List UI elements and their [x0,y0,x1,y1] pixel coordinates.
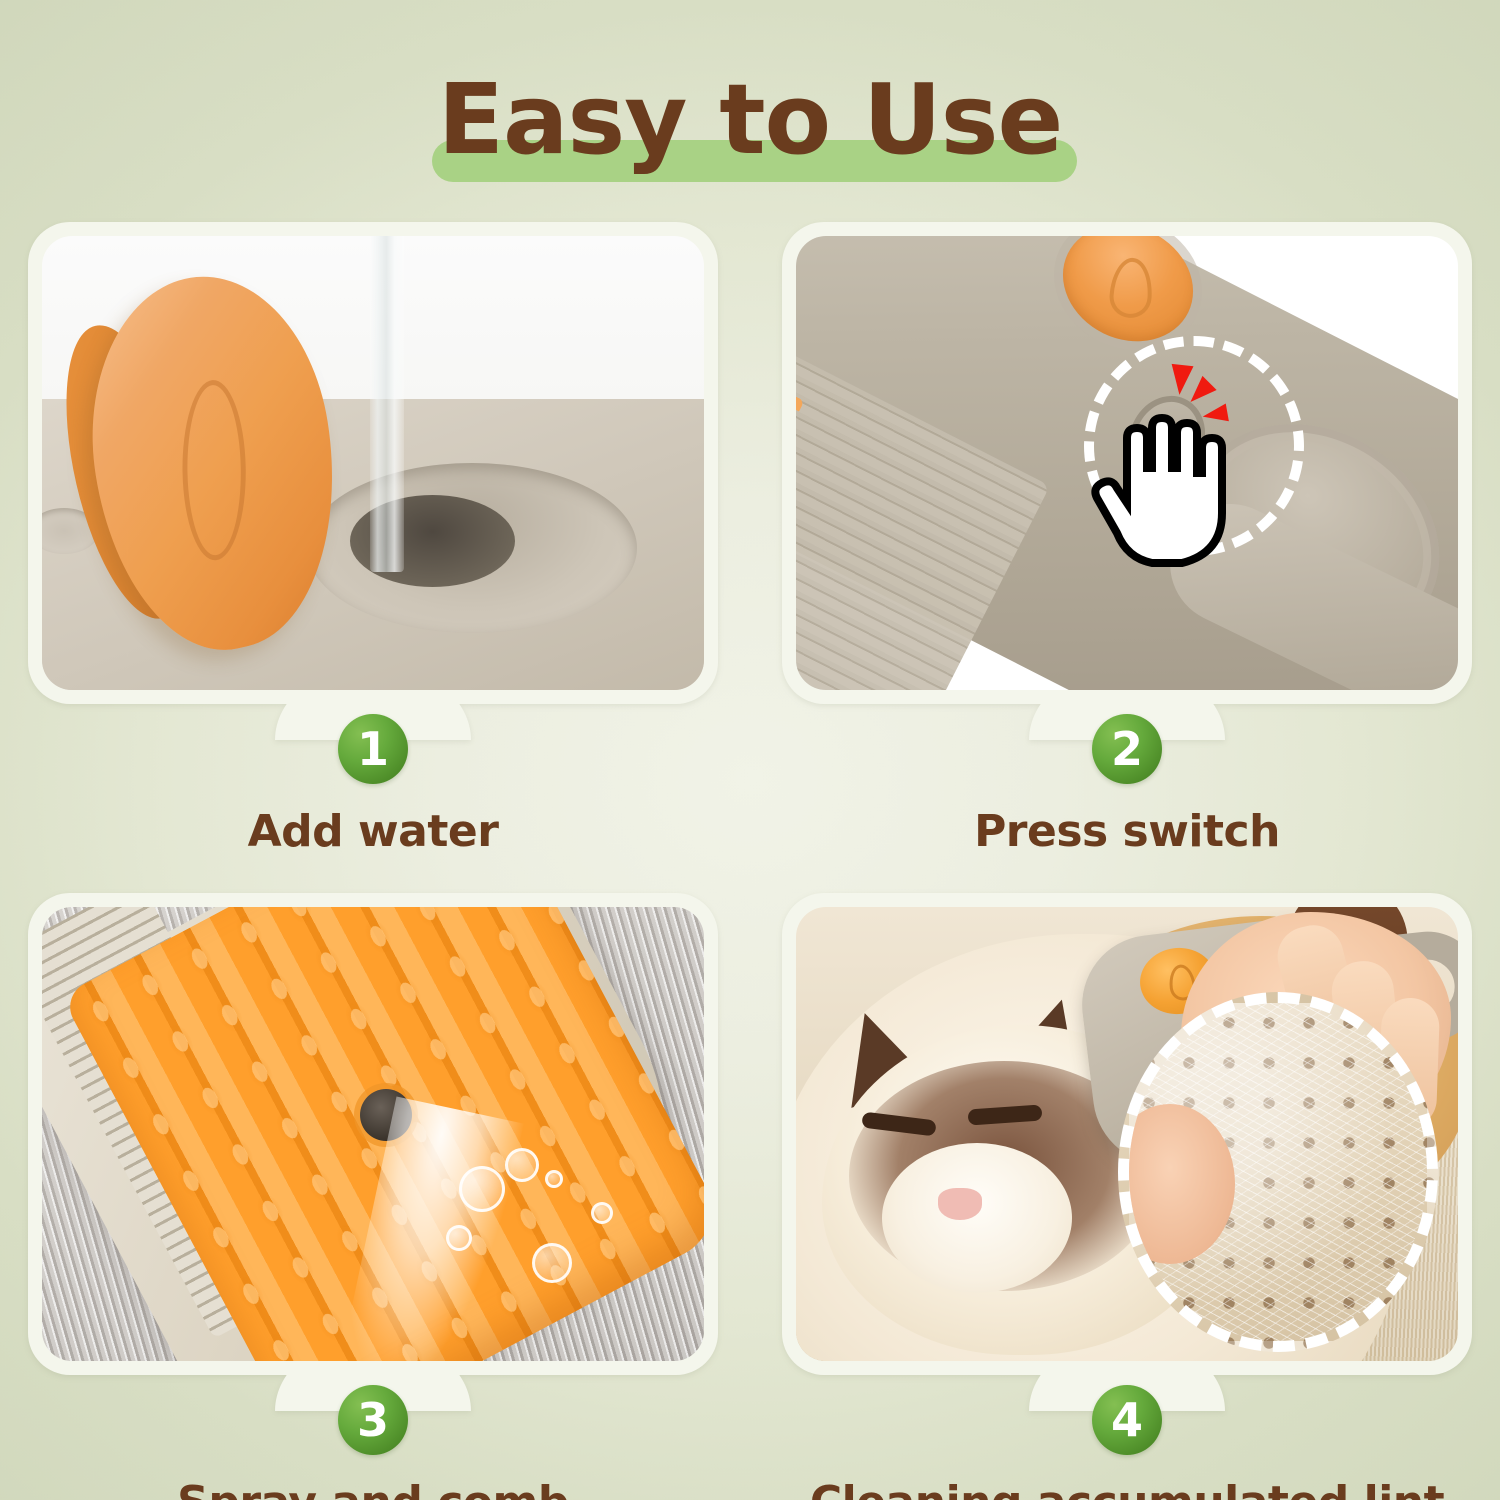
cat-muzzle [882,1143,1072,1293]
step-3-caption: Spray and comb [177,1477,569,1500]
step-1-caption: Add water [248,806,499,857]
step-4-badge: 4 [1092,1385,1162,1455]
step-1-photo-add-water [42,236,704,690]
step-2-photo-press-switch [796,236,1458,690]
step-card-4: 4 Cleaning accumulated lint [776,893,1478,1500]
page-header: Easy to Use [0,58,1500,188]
bubble-icon [505,1148,539,1182]
step-2-badge: 2 [1092,714,1162,784]
page-title: Easy to Use [438,71,1063,168]
step-3-photo-frame [28,893,718,1375]
step-3-badge: 3 [338,1385,408,1455]
hand-cursor-icon [1087,413,1237,577]
step-3-photo-spray-comb [42,907,704,1361]
lint-closeup-inset [1118,992,1438,1352]
step-card-2: 2 Press switch [776,222,1478,857]
step-card-3: 3 Spray and comb [22,893,724,1500]
bubble-icon [459,1166,505,1212]
bubble-icon [532,1243,572,1283]
step-1-badge: 1 [338,714,408,784]
step-2-caption: Press switch [974,806,1280,857]
step-4-photo-cleaning-lint [796,907,1458,1361]
step-4-caption: Cleaning accumulated lint [810,1477,1444,1500]
steps-grid: 1 Add water [22,222,1478,1484]
bubble-icon [446,1225,472,1251]
step-1-photo-frame [28,222,718,704]
water-stream [370,236,404,572]
step-card-1: 1 Add water [22,222,724,857]
step-4-photo-frame [782,893,1472,1375]
step-2-photo-frame [782,222,1472,704]
